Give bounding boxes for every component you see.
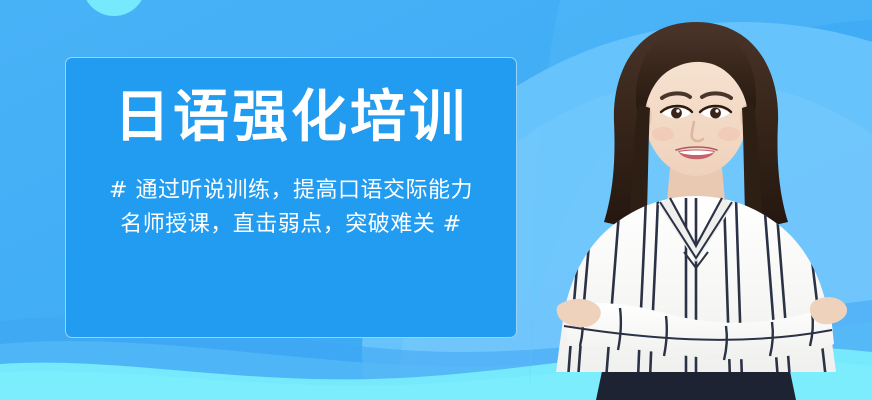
page-title: 日语强化培训 [66, 88, 516, 148]
subtitle-line-1: # 通过听说训练，提高口语交际能力 [66, 174, 516, 208]
subtitle-block: # 通过听说训练，提高口语交际能力 名师授课，直击弱点，突破难关 # [66, 174, 516, 242]
headline-panel-content: 日语强化培训 # 通过听说训练，提高口语交际能力 名师授课，直击弱点，突破难关 … [66, 88, 516, 242]
hand-right [810, 297, 847, 324]
headline-panel: 日语强化培训 # 通过听说训练，提高口语交际能力 名师授课，直击弱点，突破难关 … [65, 57, 517, 338]
subtitle-line-2: 名师授课，直击弱点，突破难关 # [66, 208, 516, 242]
course-promo-banner: 日语强化培训 # 通过听说训练，提高口语交际能力 名师授课，直击弱点，突破难关 … [0, 0, 872, 400]
model-photo [520, 0, 872, 400]
